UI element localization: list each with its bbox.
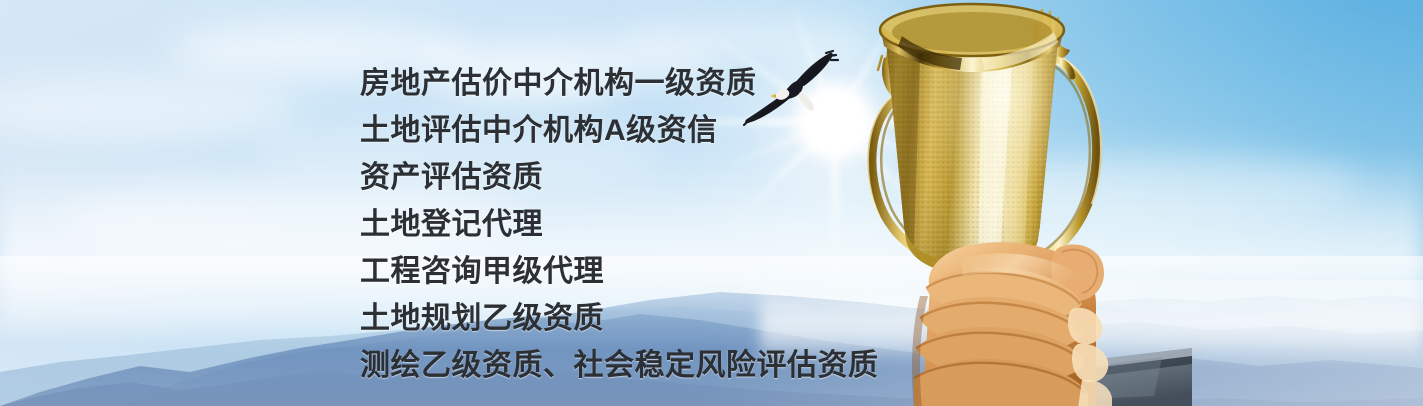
headline-line-6: 土地规划乙级资质 [360,295,879,342]
headline-line-7: 测绘乙级资质、社会稳定风险评估资质 [360,342,879,389]
hand-holding-trophy-icon [862,0,1192,406]
headline-line-1: 房地产估价中介机构一级资质 [360,60,879,107]
hand-icon [912,242,1112,406]
headline-line-3: 资产评估资质 [360,154,879,201]
headline-line-4: 土地登记代理 [360,201,879,248]
headline-line-2: 土地评估中介机构A级资信 [360,107,879,154]
promo-banner: 房地产估价中介机构一级资质 土地评估中介机构A级资信 资产评估资质 土地登记代理… [0,0,1423,406]
headline-list: 房地产估价中介机构一级资质 土地评估中介机构A级资信 资产评估资质 土地登记代理… [360,60,879,389]
headline-line-5: 工程咨询甲级代理 [360,248,879,295]
